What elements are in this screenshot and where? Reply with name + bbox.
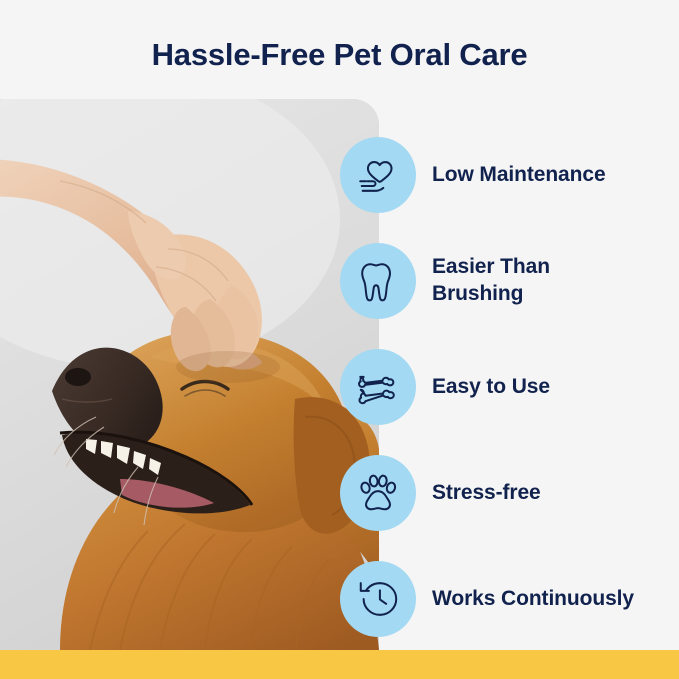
infographic-panel: Hassle-Free Pet Oral Care xyxy=(0,0,679,679)
feature-icon-badge xyxy=(340,455,416,531)
clock-refresh-icon xyxy=(355,576,401,622)
feature-item-stress-free[interactable]: Stress-free xyxy=(340,455,679,531)
crossed-bones-icon xyxy=(355,364,401,410)
feature-item-easy-to-use[interactable]: Easy to Use xyxy=(340,349,679,425)
feature-icon-badge xyxy=(340,243,416,319)
tooth-icon xyxy=(355,258,401,304)
heart-in-hand-icon xyxy=(355,152,401,198)
feature-label: Works Continuously xyxy=(432,586,634,613)
feature-label: Low Maintenance xyxy=(432,162,606,189)
feature-item-works-continuously[interactable]: Works Continuously xyxy=(340,561,679,637)
feature-label: Stress-free xyxy=(432,480,541,507)
feature-list: Low Maintenance Easier Than Brushing Eas… xyxy=(0,99,679,650)
feature-icon-badge xyxy=(340,349,416,425)
feature-icon-badge xyxy=(340,137,416,213)
bottom-accent-bar xyxy=(0,650,679,679)
page-title: Hassle-Free Pet Oral Care xyxy=(0,36,679,75)
feature-item-low-maintenance[interactable]: Low Maintenance xyxy=(340,137,679,213)
feature-icon-badge xyxy=(340,561,416,637)
feature-label: Easy to Use xyxy=(432,374,550,401)
paw-print-icon xyxy=(355,470,401,516)
feature-label: Easier Than Brushing xyxy=(432,254,642,308)
feature-item-easier-than-brushing[interactable]: Easier Than Brushing xyxy=(340,243,679,319)
